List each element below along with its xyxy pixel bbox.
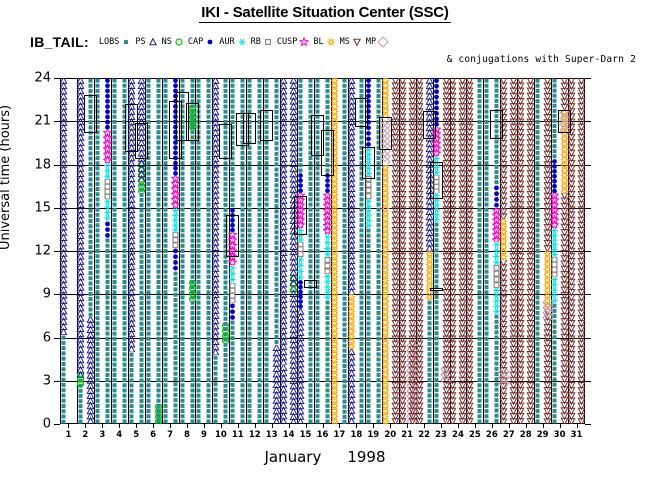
page-title-text: IKI - Satellite Situation Center (SSC) (199, 4, 450, 23)
y-axis-tick-label: 9 (43, 287, 51, 302)
y-tick-mark-right (585, 424, 591, 425)
x-tick-mark (85, 424, 86, 428)
data-segment-aur (550, 277, 559, 303)
x-axis-day-label: 6 (150, 430, 156, 440)
x-tick-mark (68, 424, 69, 428)
conjugation-box (430, 288, 443, 291)
x-axis-day-label: 8 (184, 430, 190, 440)
x-tick-mark (289, 424, 290, 428)
data-segment-ps (296, 309, 305, 424)
x-axis-day-label: 24 (452, 430, 464, 440)
filled-square-icon (120, 36, 132, 48)
data-segment-cusp (550, 193, 559, 228)
legend: IB_TAIL: LOBSPSNSCAPAURRBCUSPBLMSMP (30, 31, 630, 53)
y-axis-tick-label: 6 (43, 330, 51, 345)
x-axis-day-label: 28 (520, 430, 532, 440)
conjugation-box (219, 124, 232, 159)
data-segment-bl (499, 219, 508, 259)
data-segment-cap (296, 173, 305, 193)
conjugation-box (226, 215, 239, 257)
legend-item-mp: MP (366, 36, 389, 48)
diamond-icon (377, 36, 389, 48)
y-axis-tick-label: 15 (34, 200, 51, 215)
page-title: IKI - Satellite Situation Center (SSC) (0, 4, 650, 21)
y-axis-tick-label: 0 (43, 417, 51, 432)
legend-item-rb: RB (251, 36, 274, 48)
conjugation-box (423, 111, 436, 138)
x-axis-day-label: 11 (232, 430, 244, 440)
filled-circle-icon (204, 36, 216, 48)
data-segment-ps (59, 78, 68, 335)
x-axis-day-label: 20 (384, 430, 396, 440)
data-segment-lobs (59, 335, 68, 424)
x-axis-day-label: 27 (503, 430, 515, 440)
data-segment-aur (296, 257, 305, 280)
x-tick-mark (204, 424, 205, 428)
x-axis-day-label: 19 (367, 430, 379, 440)
open-triangle-icon (147, 36, 159, 48)
legend-label: BL (313, 37, 323, 47)
legend-label: PS (135, 37, 145, 47)
y-tick-mark (54, 424, 60, 425)
x-tick-mark (119, 424, 120, 428)
x-axis-day-label: 4 (116, 430, 122, 440)
x-tick-mark (475, 424, 476, 428)
x-tick-mark (424, 424, 425, 428)
y-axis-tick-label: 12 (34, 244, 51, 259)
data-segment-cap (550, 159, 559, 194)
x-axis-day-label: 12 (249, 430, 261, 440)
x-axis-day-label: 31 (571, 430, 583, 440)
x-tick-mark (543, 424, 544, 428)
conjugation-box (321, 130, 334, 176)
data-segment-lobs (211, 355, 220, 424)
data-segment-rb (364, 176, 373, 199)
legend-label: CAP (188, 37, 203, 47)
x-tick-mark (272, 424, 273, 428)
data-segment-bl (381, 257, 390, 424)
data-segment-ps (279, 365, 288, 424)
conjugation-box (84, 95, 97, 132)
x-axis-day-label: 16 (317, 430, 329, 440)
x-tick-mark (221, 424, 222, 428)
x-tick-mark (458, 424, 459, 428)
conjugation-note: & conjugations with Super-Darn 2 (447, 54, 636, 65)
x-axis-day-label: 5 (133, 430, 139, 440)
data-segment-aur (550, 228, 559, 257)
conjugation-box (294, 196, 307, 235)
legend-item-ps: PS (135, 36, 158, 48)
x-tick-mark (441, 424, 442, 428)
star-icon (298, 36, 310, 48)
data-segment-cap (228, 303, 237, 320)
x-tick-mark (238, 424, 239, 428)
x-axis-day-label: 1 (65, 430, 71, 440)
x-axis-day-label: 14 (283, 430, 295, 440)
x-axis-day-label: 29 (537, 430, 549, 440)
legend-item-ns: NS (162, 36, 185, 48)
x-tick-mark (356, 424, 357, 428)
x-axis-title: January1998 (0, 448, 650, 466)
x-tick-mark (560, 424, 561, 428)
data-segment-ms (448, 78, 457, 424)
data-segment-bl (381, 165, 390, 257)
tail-label: IB_TAIL: (30, 34, 89, 50)
conjugation-box (135, 123, 148, 159)
data-segment-lobs (364, 228, 373, 424)
x-axis-day-label: 18 (350, 430, 362, 440)
legend-item-lobs: LOBS (99, 36, 132, 48)
legend-label: MS (340, 37, 350, 47)
sun-star-icon (325, 36, 337, 48)
conjugation-box (558, 110, 571, 133)
data-segment-lobs (110, 78, 119, 424)
legend-items: LOBSPSNSCAPAURRBCUSPBLMSMP (99, 36, 392, 48)
legend-item-bl: BL (313, 36, 336, 48)
legend-label: LOBS (99, 37, 119, 47)
plot-area: 03691215182124 1234567891011121314151617… (60, 78, 585, 424)
x-axis-day-label: 10 (215, 430, 227, 440)
x-tick-mark (102, 424, 103, 428)
y-axis-title: Universal time (hours) (0, 105, 13, 250)
data-segment-ps (347, 349, 356, 424)
x-axis-day-label: 26 (486, 430, 498, 440)
conjugation-box (260, 110, 273, 142)
x-axis-day-label: 17 (334, 430, 346, 440)
x-axis-day-label: 25 (469, 430, 481, 440)
data-segment-ps (279, 78, 288, 365)
x-tick-mark (323, 424, 324, 428)
legend-label: CUSP (277, 37, 297, 47)
x-tick-mark (577, 424, 578, 428)
data-segment-lobs (432, 222, 441, 424)
data-segment-lobs (533, 78, 542, 424)
x-axis-day-label: 7 (167, 430, 173, 440)
data-segment-ms (577, 78, 586, 424)
legend-label: MP (366, 37, 376, 47)
x-axis-day-label: 22 (418, 430, 430, 440)
x-tick-mark (136, 424, 137, 428)
data-segment-aur (228, 265, 237, 282)
x-tick-mark (492, 424, 493, 428)
conjugation-box (362, 147, 375, 179)
x-tick-mark (373, 424, 374, 428)
x-axis-day-label: 30 (554, 430, 566, 440)
x-axis-year: 1998 (347, 448, 385, 466)
x-axis-day-label: 2 (82, 430, 88, 440)
data-segment-lobs (550, 303, 559, 424)
x-axis-month: January (264, 448, 321, 466)
y-axis-tick-label: 18 (34, 157, 51, 172)
data-segment-ms (499, 78, 508, 219)
x-tick-mark (509, 424, 510, 428)
x-tick-mark (407, 424, 408, 428)
x-tick-mark (339, 424, 340, 428)
legend-label: AUR (219, 37, 234, 47)
x-axis-day-label: 13 (266, 430, 278, 440)
conjugation-box (490, 110, 503, 139)
conjugation-box (430, 162, 443, 199)
asterisk-icon (236, 36, 248, 48)
x-tick-mark (255, 424, 256, 428)
x-axis-day-label: 15 (300, 430, 312, 440)
data-segment-ps (211, 78, 220, 355)
data-segment-aur (364, 199, 373, 228)
data-segment-rb (228, 283, 237, 303)
x-tick-mark (153, 424, 154, 428)
legend-item-ms: MS (340, 36, 363, 48)
ssc-plot-page: IKI - Satellite Situation Center (SSC) I… (0, 0, 650, 500)
data-segment-lobs (228, 320, 237, 424)
data-segment-rb (296, 242, 305, 256)
open-circle-icon (173, 36, 185, 48)
data-segment-ms (516, 78, 525, 424)
x-tick-mark (306, 424, 307, 428)
y-axis-tick-label: 21 (34, 114, 51, 129)
data-segment-bl (381, 78, 390, 118)
down-triangle-icon (351, 36, 363, 48)
legend-item-cap: CAP (188, 36, 216, 48)
legend-label: NS (162, 37, 172, 47)
x-tick-mark (390, 424, 391, 428)
x-axis-day-label: 3 (99, 430, 105, 440)
x-axis-day-label: 9 (201, 430, 207, 440)
data-segment-ms (465, 78, 474, 424)
conjugation-box (304, 280, 317, 289)
conjugation-box (186, 103, 199, 142)
conjugation-box (379, 117, 392, 150)
data-segment-rb (550, 257, 559, 277)
data-segment-ms (499, 260, 508, 424)
data-segment-bl (347, 294, 356, 349)
x-tick-mark (170, 424, 171, 428)
x-axis-day-label: 23 (435, 430, 447, 440)
open-square-icon (262, 36, 274, 48)
x-tick-mark (187, 424, 188, 428)
conjugation-box (243, 113, 256, 145)
legend-item-cusp: CUSP (277, 36, 310, 48)
legend-label: RB (251, 37, 261, 47)
x-axis-day-label: 21 (401, 430, 413, 440)
x-tick-mark (526, 424, 527, 428)
y-axis-tick-label: 3 (43, 373, 51, 388)
conjugation-box (355, 98, 368, 127)
legend-item-aur: AUR (219, 36, 247, 48)
data-segment-lobs (296, 78, 305, 173)
data-segment-lobs (127, 352, 136, 424)
y-axis-tick-label: 24 (34, 71, 51, 86)
